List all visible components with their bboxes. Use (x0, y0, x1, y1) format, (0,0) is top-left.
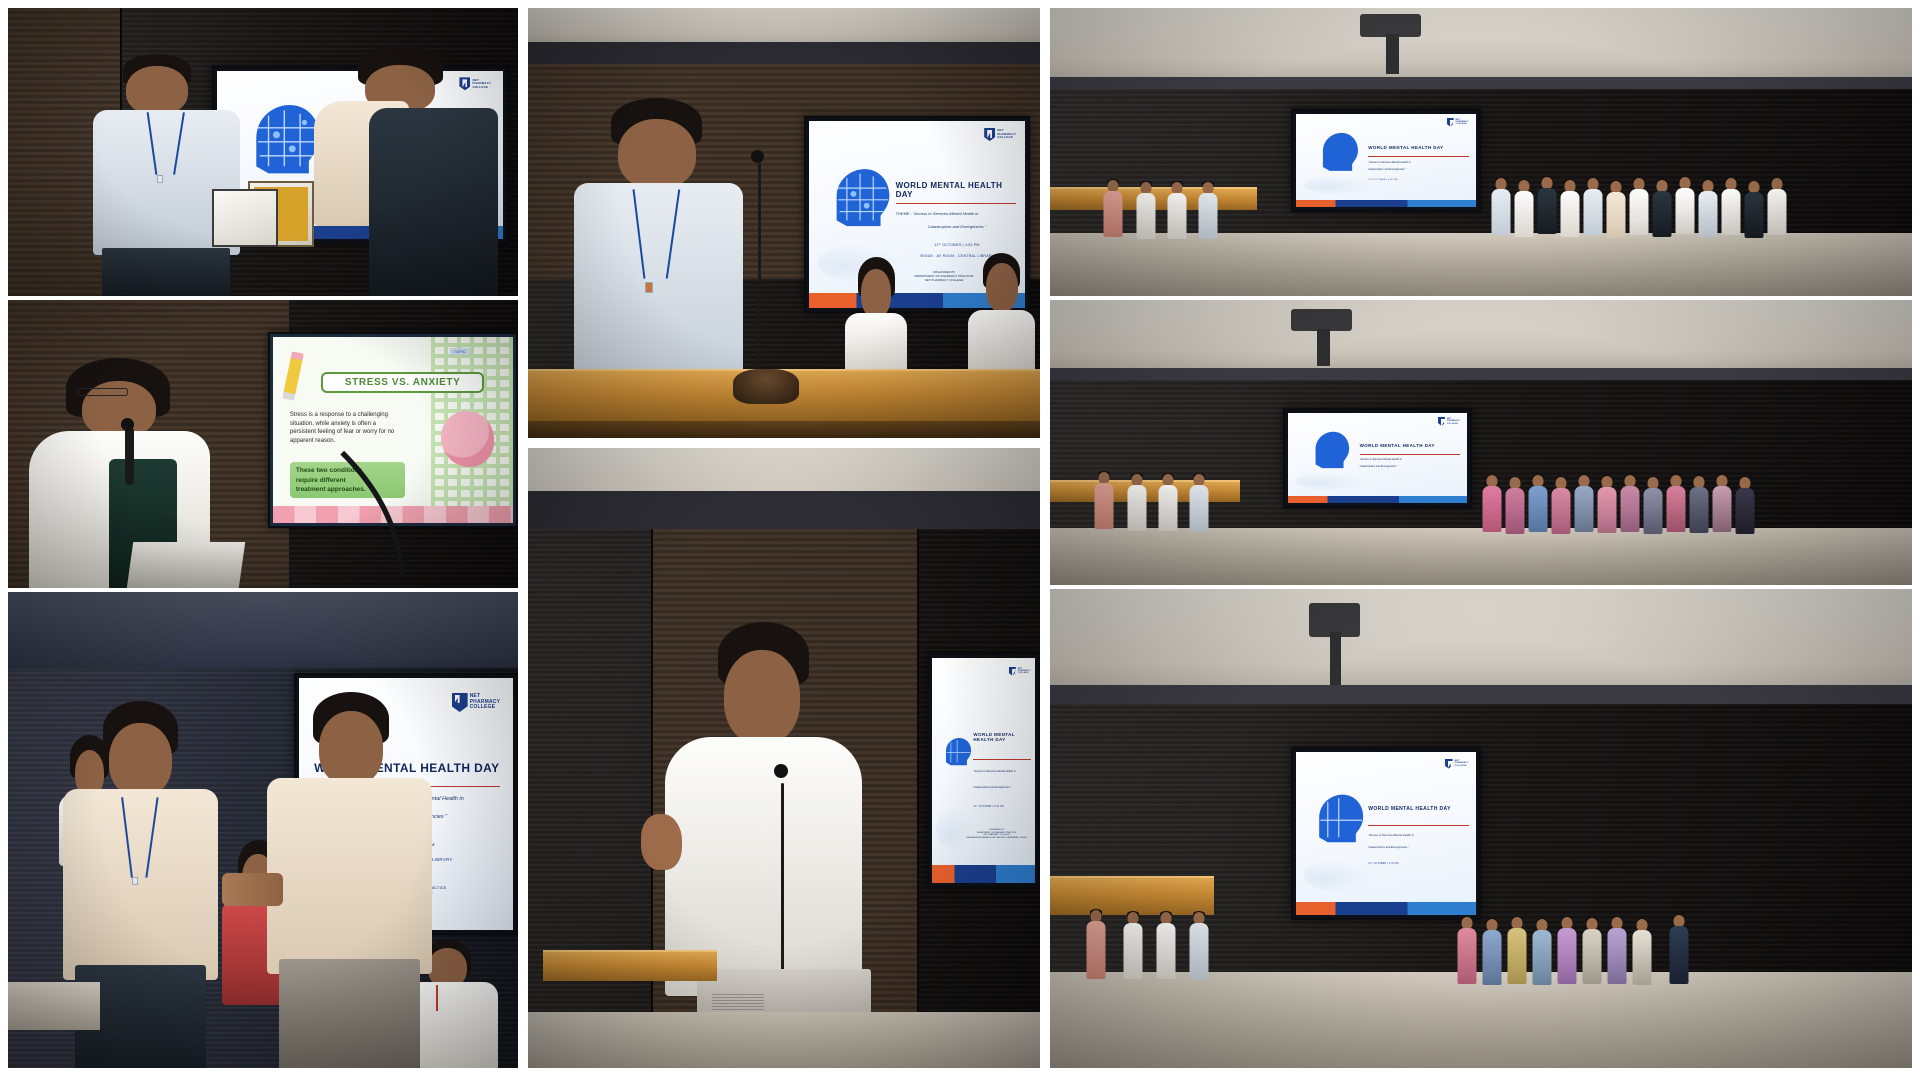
slide-theme-line1: "Access to Services-Mental Health in (1360, 458, 1462, 461)
gesturing-hand (641, 814, 682, 870)
group-faculty-row (1102, 135, 1220, 250)
group-students-row (1490, 129, 1789, 250)
slide-tag: TOPIC (450, 348, 470, 355)
photo-panel-group-male-students: NET PHARMACY COLLEGE WORLD MENTAL HEALTH… (1050, 8, 1912, 296)
photo-panel-speaker-podium: NET PHARMACY COLLEGE WORLD MENTAL HEALTH… (528, 448, 1040, 1068)
photo-collage: NET PHARMACY COLLEGE (0, 0, 1920, 1080)
person-student (1513, 180, 1535, 250)
podium-microphone (781, 783, 784, 988)
certificate-frame (212, 189, 278, 247)
brain-puzzle-icon (939, 694, 974, 811)
photo-panel-group-mixed-students: NET PHARMACY COLLEGE WORLD MENTAL HEALTH… (1050, 589, 1912, 1068)
stress-slide-body: Stress is a response to a challenging si… (290, 411, 400, 446)
person-student (1480, 919, 1504, 1001)
person-student (1481, 475, 1503, 545)
person-student (1580, 918, 1604, 1001)
person-faculty (1197, 182, 1219, 250)
pencil-icon (283, 351, 305, 401)
person-faculty (1157, 474, 1179, 542)
projection-screen: NET PHARMACY COLLEGE WORLD MENTAL HEALTH… (1291, 747, 1481, 919)
person-faculty (1093, 472, 1115, 542)
person-student (1605, 917, 1629, 1001)
person-student (1490, 178, 1512, 250)
slide-theme-line2: Catastrophes and Emergencies " (896, 224, 1019, 229)
college-logo-icon: NET PHARMACY COLLEGE (984, 128, 1016, 141)
projector-mount (1317, 329, 1330, 366)
slide-title: WORLD MENTAL HEALTH DAY (973, 732, 1032, 742)
person-speaker (682, 622, 846, 982)
eyeglasses-icon (77, 388, 128, 397)
person-guest-female (314, 45, 498, 296)
front-desk (8, 982, 100, 1030)
group-faculty-row (1084, 785, 1212, 996)
person-faculty (1154, 912, 1178, 996)
person-faculty (1166, 182, 1188, 250)
slide-theme-line2: Catastrophes and Emergencies " (1368, 168, 1470, 171)
brain-puzzle-icon (1299, 428, 1360, 475)
person-student (1530, 919, 1554, 1001)
person-student (1743, 181, 1765, 250)
microphone-capsule-icon (751, 150, 764, 163)
person-faculty (1102, 180, 1124, 250)
person-chief-guest (574, 98, 743, 399)
event-slide: NET PHARMACY COLLEGE WORLD MENTAL HEALTH… (932, 658, 1035, 884)
person-student (1455, 917, 1479, 1001)
slide-date: 11ᵗʰ OCTOBER | 4:00 PM (1368, 179, 1470, 181)
person-student (1651, 180, 1673, 250)
person-recipient-right (273, 692, 426, 1068)
person-student (1505, 917, 1529, 1001)
gooseneck-microphone (758, 163, 761, 369)
person-student (1665, 475, 1687, 545)
person-student (1674, 177, 1696, 250)
person-student (1619, 475, 1641, 545)
person-seated-male (968, 253, 1035, 382)
person-faculty (1084, 910, 1108, 996)
photo-panel-memento-presentation: NET PHARMACY COLLEGE (8, 8, 518, 296)
person-student (1536, 177, 1558, 250)
person-student (1734, 477, 1756, 545)
brain-puzzle-icon (822, 151, 895, 249)
person-student (1642, 477, 1664, 545)
brain-puzzle-icon (1307, 778, 1368, 862)
person-student (1720, 178, 1742, 250)
college-logo-icon: NET PHARMACY COLLEGE (452, 693, 501, 712)
slide-theme-line1: "Access to Services-Mental Health in (973, 770, 1032, 773)
microphone-capsule-icon (774, 764, 788, 778)
person-faculty-male (90, 54, 243, 296)
slide-footer-stripes (1296, 200, 1476, 207)
microphone-base (733, 369, 800, 403)
photo-panel-certificate-handover: NET PHARMACY COLLEGE WORLD MENTAL HEALTH… (8, 592, 518, 1068)
person-student (1555, 917, 1579, 1001)
person-student (1697, 180, 1719, 250)
person-student (1559, 180, 1581, 250)
projector-mount (1330, 632, 1341, 685)
person-student (1550, 477, 1572, 545)
slide-theme-line1: "Access to Services-Mental Health in (913, 211, 978, 216)
event-slide: NET PHARMACY COLLEGE WORLD MENTAL HEALTH… (1288, 413, 1468, 503)
slide-theme-line1: "Access to Services-Mental Health in (1368, 161, 1470, 164)
college-logo-icon: NET PHARMACY COLLEGE (1009, 667, 1031, 676)
slide-org-line3: RAGHAVENDRA NAGAR ROAD, RAICHUR, KARNATA… (961, 837, 1032, 840)
group-students-row (1481, 425, 1757, 545)
slide-title: WORLD MENTAL HEALTH DAY (1360, 443, 1462, 448)
projection-screen: NET PHARMACY COLLEGE WORLD MENTAL HEALTH… (1283, 408, 1473, 508)
laptop (127, 542, 246, 588)
college-logo-icon: NET PHARMACY COLLEGE (1447, 118, 1469, 127)
person-seated-female (845, 257, 906, 377)
projector-mount (1386, 34, 1399, 74)
person-student (1630, 919, 1654, 1001)
person-faculty (1126, 474, 1148, 542)
photo-panel-group-female-students: NET PHARMACY COLLEGE WORLD MENTAL HEALTH… (1050, 300, 1912, 585)
projection-screen: NET PHARMACY COLLEGE WORLD MENTAL HEALTH… (1291, 109, 1481, 213)
person-student (1688, 476, 1710, 545)
person-student (1667, 915, 1691, 1001)
person-student (1596, 476, 1618, 545)
person-student (1582, 178, 1604, 250)
person-faculty (1135, 182, 1157, 250)
group-students-row (1455, 790, 1692, 1001)
person-student (1573, 475, 1595, 545)
photo-panel-stress-anxiety-lecture: TOPIC STRESS VS. ANXIETY Stress is a res… (8, 300, 518, 588)
slide-theme-line2: Catastrophes and Emergencies " (1360, 465, 1462, 468)
slide-date: 11ᵗʰ OCTOBER | 4:00 PM (896, 243, 1019, 247)
slide-footer-stripes (932, 865, 1035, 883)
event-slide: NET PHARMACY COLLEGE WORLD MENTAL HEALTH… (1296, 752, 1476, 914)
event-slide: NET PHARMACY COLLEGE WORLD MENTAL HEALTH… (1296, 114, 1476, 208)
slide-footer-stripes (1296, 902, 1476, 915)
college-logo-icon: NET PHARMACY COLLEGE (1445, 759, 1469, 769)
photo-panel-chief-guest-podium: NET PHARMACY COLLEGE (528, 8, 1040, 438)
brain-puzzle-icon (1307, 129, 1368, 178)
slide-footer-stripes (1288, 496, 1468, 503)
slide-theme-label: THEME : (896, 211, 912, 216)
person-faculty (1188, 474, 1210, 542)
handheld-microphone (125, 427, 134, 485)
person-student (1628, 178, 1650, 250)
group-faculty-row (1093, 428, 1211, 542)
person-faculty (1187, 912, 1211, 996)
person-student (1766, 178, 1788, 250)
person-student (1504, 477, 1526, 545)
person-faculty (1121, 912, 1145, 996)
slide-title: WORLD MENTAL HEALTH DAY (896, 181, 1019, 199)
person-student (1527, 475, 1549, 545)
handshake (222, 873, 283, 906)
person-student (1605, 181, 1627, 250)
podium-wooden-top (543, 950, 717, 981)
projection-screen: NET PHARMACY COLLEGE WORLD MENTAL HEALTH… (927, 653, 1040, 889)
slide-theme-line2: Catastrophes and Emergencies " (973, 786, 1032, 789)
slide-date: 11ᵗʰ OCTOBER | 4:00 PM (973, 806, 1032, 808)
slide-title: WORLD MENTAL HEALTH DAY (1368, 145, 1470, 150)
stress-slide-title: STRESS VS. ANXIETY (321, 372, 484, 393)
person-student (1711, 475, 1733, 545)
college-logo-icon: NET PHARMACY COLLEGE (1438, 417, 1460, 426)
microphone-cable (324, 450, 477, 582)
